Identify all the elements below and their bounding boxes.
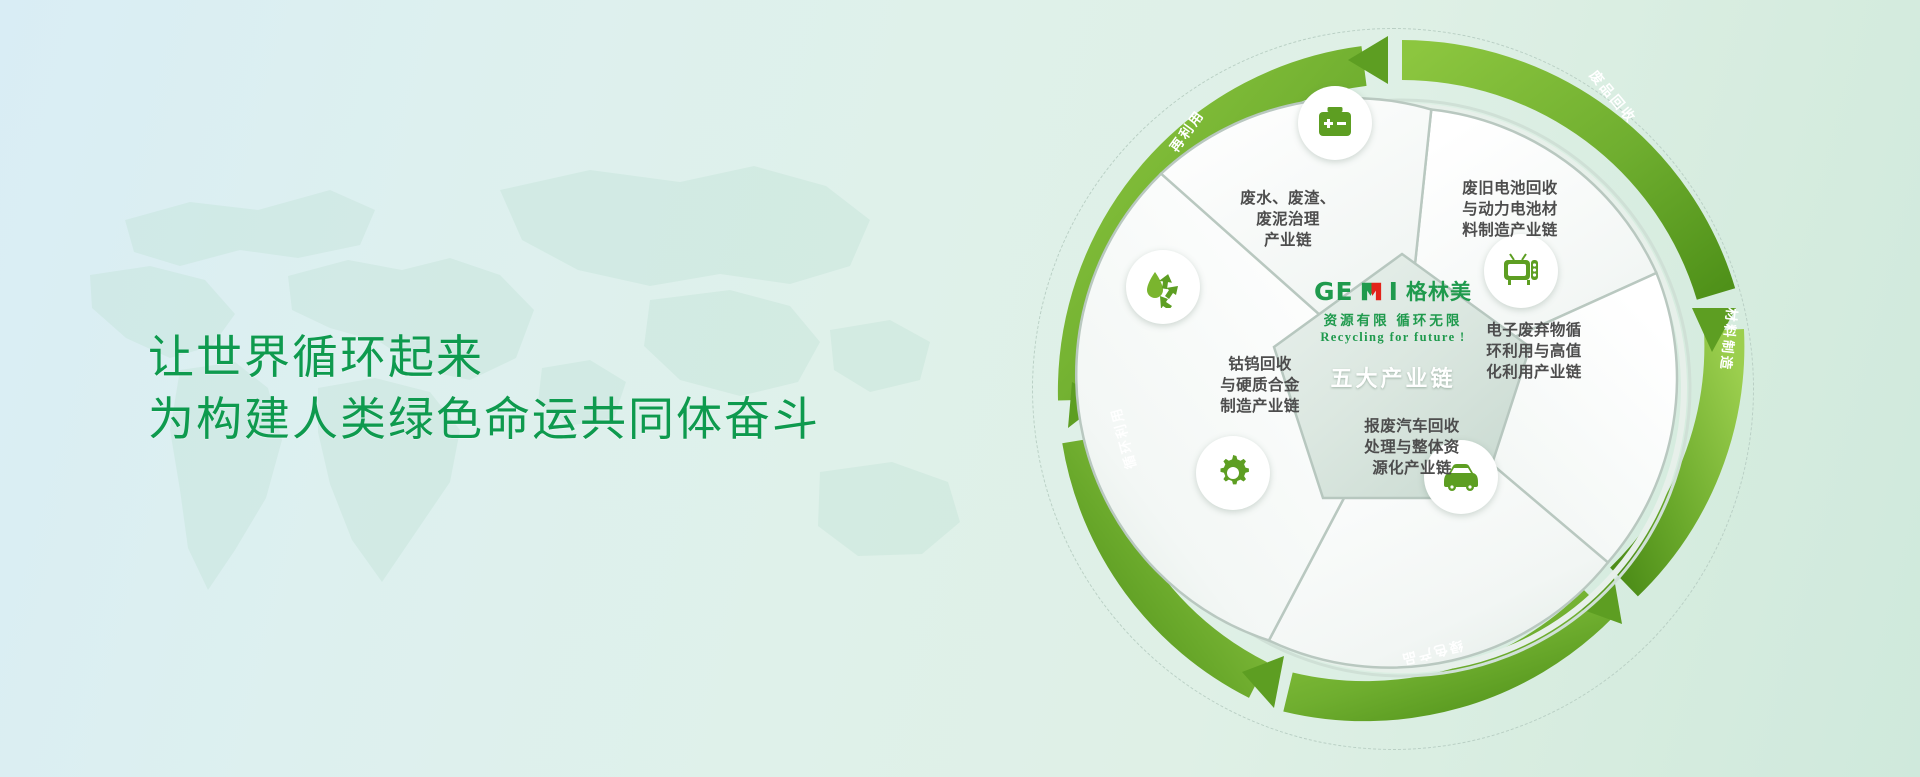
- banner-hero: 让世界循环起来 为构建人类绿色命运共同体奋斗: [0, 0, 1920, 777]
- water-recycle-icon: [1142, 266, 1184, 308]
- battery-icon: [1315, 103, 1355, 143]
- brand-latin-text: GE: [1314, 279, 1354, 304]
- gem-m-mark-icon: [1361, 281, 1382, 302]
- segment-label-waste-water: 废水、废渣、 废泥治理 产业链: [1198, 188, 1378, 251]
- hero-headline: 让世界循环起来 为构建人类绿色命运共同体奋斗: [148, 326, 820, 450]
- segment-label-battery: 废旧电池回收 与动力电池材 料制造产业链: [1420, 178, 1600, 241]
- five-industry-chain-diagram: 废旧电池回收 与动力电池材 料制造产业链 电子废弃物循 环利用与高值 化利用产业…: [1012, 8, 1812, 768]
- brand-slogan-cn: 资源有限 循环无限: [1248, 309, 1538, 329]
- gear-icon-badge[interactable]: [1196, 436, 1270, 510]
- gear-icon: [1213, 453, 1253, 493]
- brand-slogan-en: Recycling for future !: [1248, 330, 1538, 345]
- headline-line-1: 让世界循环起来: [148, 326, 820, 388]
- brand-latin-tail: I: [1389, 279, 1399, 304]
- diagram-center-title: 五大产业链: [1248, 361, 1538, 393]
- center-brand-logo: GE I 格林美 资源有限 循环无限 Recycling for future …: [1248, 276, 1538, 426]
- battery-icon-badge[interactable]: [1298, 86, 1372, 160]
- brand-cn-text: 格林美: [1406, 276, 1472, 306]
- brand-logo-row: GE I 格林美: [1248, 276, 1538, 306]
- headline-line-2: 为构建人类绿色命运共同体奋斗: [148, 388, 820, 450]
- water-recycle-icon-badge[interactable]: [1126, 250, 1200, 324]
